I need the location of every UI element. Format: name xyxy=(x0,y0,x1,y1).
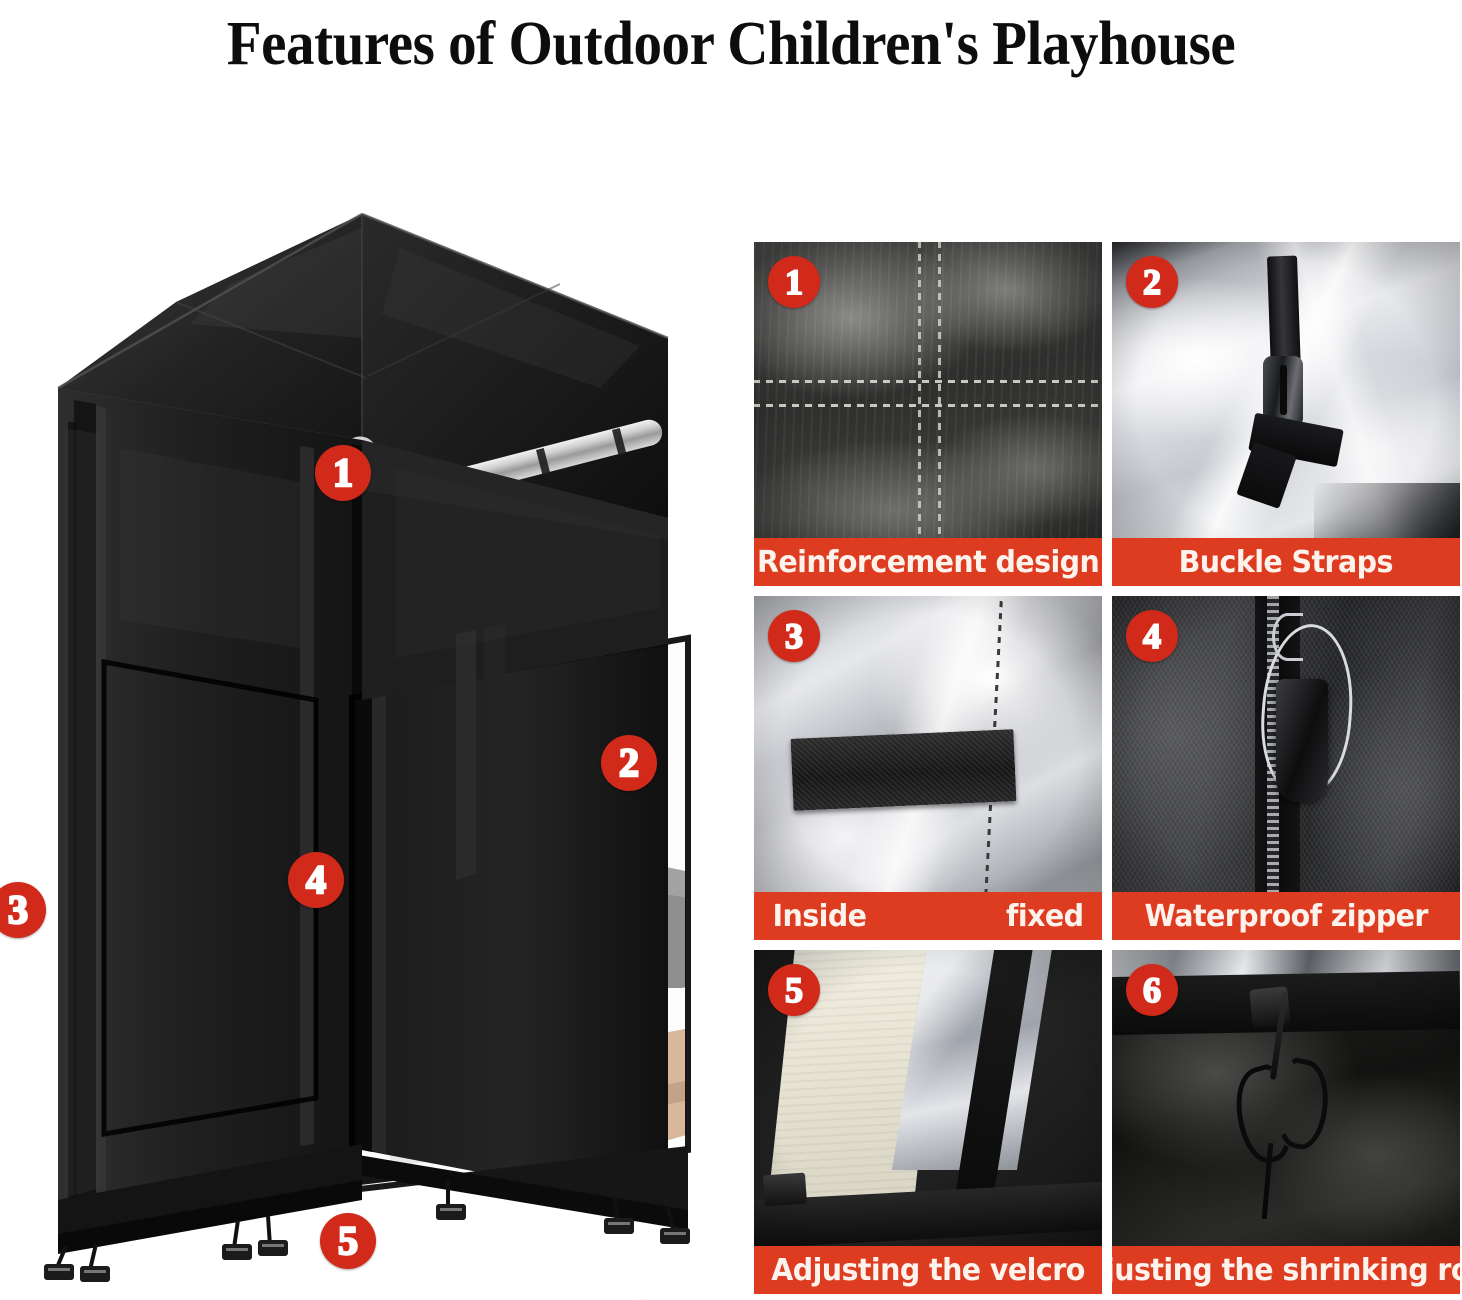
playhouse-cover-graphic xyxy=(0,88,748,1300)
feature-4-number: 4 xyxy=(1143,618,1161,654)
feature-cell-1[interactable]: 1 Reinforcement design xyxy=(752,240,1104,588)
hero-callout-1[interactable]: 1 xyxy=(315,445,371,501)
feature-2-caption: Buckle Straps xyxy=(1179,545,1393,580)
feature-2-caption-bar: Buckle Straps xyxy=(1112,538,1460,586)
feature-1-number: 1 xyxy=(785,264,803,300)
feature-6-caption-bar: Adjusting the shrinking rope xyxy=(1112,1246,1460,1294)
hero-callout-1-number: 1 xyxy=(333,453,353,493)
feature-4-badge: 4 xyxy=(1126,610,1178,662)
feature-cell-3[interactable]: 3 Inside fixed xyxy=(752,594,1104,942)
feature-6-number: 6 xyxy=(1143,972,1161,1008)
feature-1-caption-bar: Reinforcement design xyxy=(754,538,1102,586)
feature-6-caption: Adjusting the shrinking rope xyxy=(1110,1253,1462,1288)
hero-callout-3-number: 3 xyxy=(8,890,28,930)
feature-3-caption-bar: Inside fixed xyxy=(754,892,1102,940)
feature-cell-2[interactable]: 2 Buckle Straps xyxy=(1110,240,1462,588)
feature-4-caption-bar: Waterproof zipper xyxy=(1112,892,1460,940)
page-title: Features of Outdoor Children's Playhouse xyxy=(58,0,1403,88)
playhouse-illustration: 1 2 3 4 5 6 xyxy=(0,88,748,1300)
hero-product-image: 1 2 3 4 5 6 xyxy=(0,88,748,1300)
hero-callout-4-number: 4 xyxy=(306,860,326,900)
hero-callout-4[interactable]: 4 xyxy=(288,852,344,908)
feature-cell-6[interactable]: 6 Adjusting the shrinking rope xyxy=(1110,948,1462,1296)
hero-callout-5-number: 5 xyxy=(338,1221,358,1261)
feature-1-caption: Reinforcement design xyxy=(757,545,1099,580)
feature-2-badge: 2 xyxy=(1126,256,1178,308)
feature-2-number: 2 xyxy=(1143,264,1161,300)
feature-3-number: 3 xyxy=(785,618,803,654)
feature-1-badge: 1 xyxy=(768,256,820,308)
feature-3-caption-right: fixed xyxy=(1007,899,1084,934)
feature-grid: 1 Reinforcement design 2 Buckle Straps xyxy=(752,240,1462,1300)
feature-5-caption: Adjusting the velcro xyxy=(771,1253,1084,1288)
feature-6-badge: 6 xyxy=(1126,964,1178,1016)
hero-callout-2-number: 2 xyxy=(619,743,639,783)
hero-callout-5[interactable]: 5 xyxy=(320,1213,376,1269)
feature-5-number: 5 xyxy=(785,972,803,1008)
feature-3-badge: 3 xyxy=(768,610,820,662)
feature-3-caption-left: Inside xyxy=(772,899,866,934)
feature-5-badge: 5 xyxy=(768,964,820,1016)
hero-callout-2[interactable]: 2 xyxy=(601,735,657,791)
feature-4-caption: Waterproof zipper xyxy=(1144,899,1427,934)
feature-5-caption-bar: Adjusting the velcro xyxy=(754,1246,1102,1294)
feature-cell-5[interactable]: 5 Adjusting the velcro xyxy=(752,948,1104,1296)
feature-cell-4[interactable]: 4 Waterproof zipper xyxy=(1110,594,1462,942)
